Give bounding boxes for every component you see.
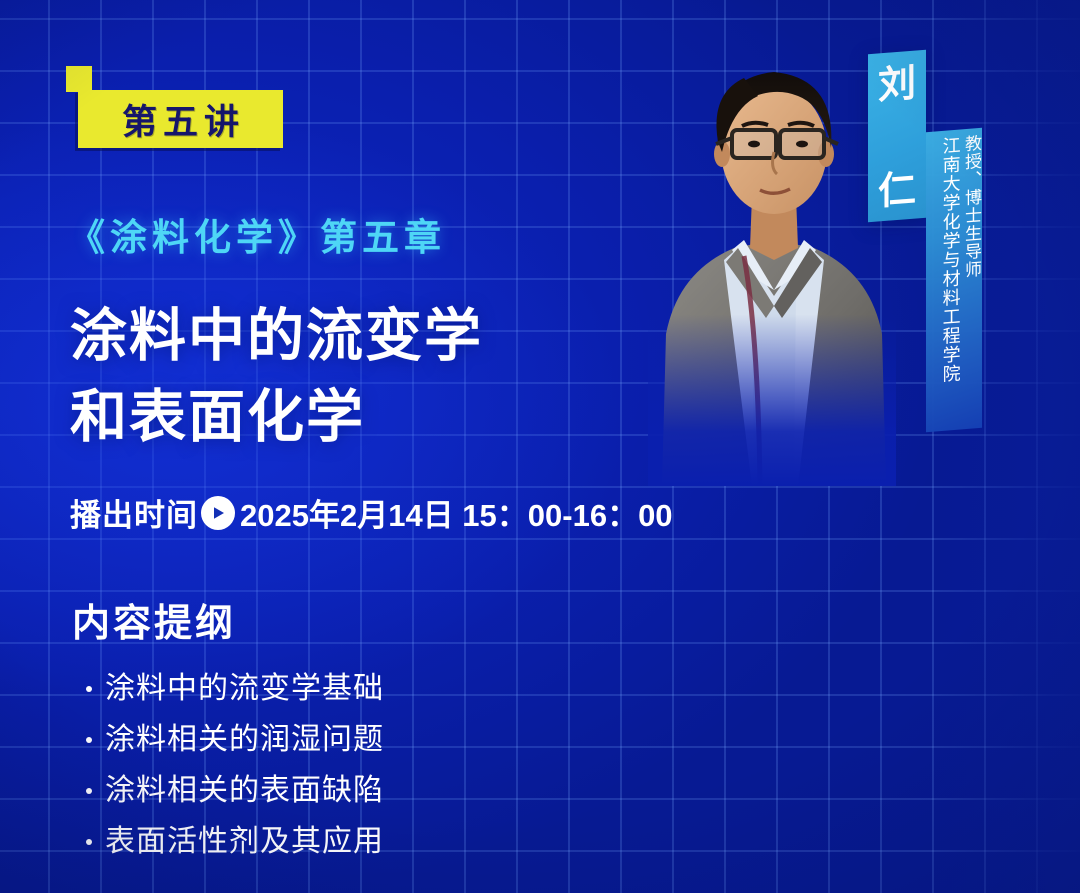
bullet-dot-icon xyxy=(86,686,92,692)
bullet-dot-icon xyxy=(86,737,92,743)
list-item-label: 涂料相关的润湿问题 xyxy=(105,725,384,755)
list-item: 涂料中的流变学基础 xyxy=(86,663,384,714)
speaker-portrait xyxy=(648,34,896,486)
list-item-label: 涂料中的流变学基础 xyxy=(105,674,384,704)
airtime-row: 播出时间 2025年2月14日 15：00-16：00 xyxy=(70,490,673,535)
page-title: 涂料中的流变学 和表面化学 xyxy=(70,296,483,458)
speaker-affiliation: 江南大学化学与材料工程学院 xyxy=(940,136,959,432)
list-item-label: 表面活性剂及其应用 xyxy=(105,827,384,857)
speaker-name-char-1: 刘 xyxy=(878,65,916,106)
airtime-label: 播出时间 xyxy=(70,490,198,535)
list-item-label: 涂料相关的表面缺陷 xyxy=(105,776,384,806)
list-item: 表面活性剂及其应用 xyxy=(86,816,384,867)
lecture-badge-label: 第五讲 xyxy=(116,94,245,145)
course-promo-poster: 第五讲 《涂料化学》第五章 涂料中的流变学 和表面化学 播出时间 2025年2月… xyxy=(0,0,1080,893)
list-item: 涂料相关的表面缺陷 xyxy=(86,765,384,816)
decor-square-icon xyxy=(66,66,92,92)
speaker-title: 教授、博士生导师 xyxy=(962,134,980,429)
speaker-name: 刘 仁 xyxy=(868,54,926,227)
outline-list: 涂料中的流变学基础 涂料相关的润湿问题 涂料相关的表面缺陷 表面活性剂及其应用 xyxy=(86,663,384,867)
list-item: 涂料相关的润湿问题 xyxy=(86,714,384,765)
page-title-line-1: 涂料中的流变学 xyxy=(70,296,483,377)
outline-heading: 内容提纲 xyxy=(72,592,236,647)
course-subtitle: 《涂料化学》第五章 xyxy=(68,207,446,261)
bullet-dot-icon xyxy=(86,839,92,845)
play-circle-icon[interactable] xyxy=(201,496,235,530)
bullet-dot-icon xyxy=(86,788,92,794)
page-title-line-2: 和表面化学 xyxy=(70,377,483,458)
lecture-badge-box: 第五讲 xyxy=(78,90,283,148)
airtime-value: 2025年2月14日 15：00-16：00 xyxy=(240,490,673,535)
speaker-name-char-2: 仁 xyxy=(878,171,916,212)
speaker-credentials: 教授、博士生导师 江南大学化学与材料工程学院 xyxy=(926,128,982,432)
